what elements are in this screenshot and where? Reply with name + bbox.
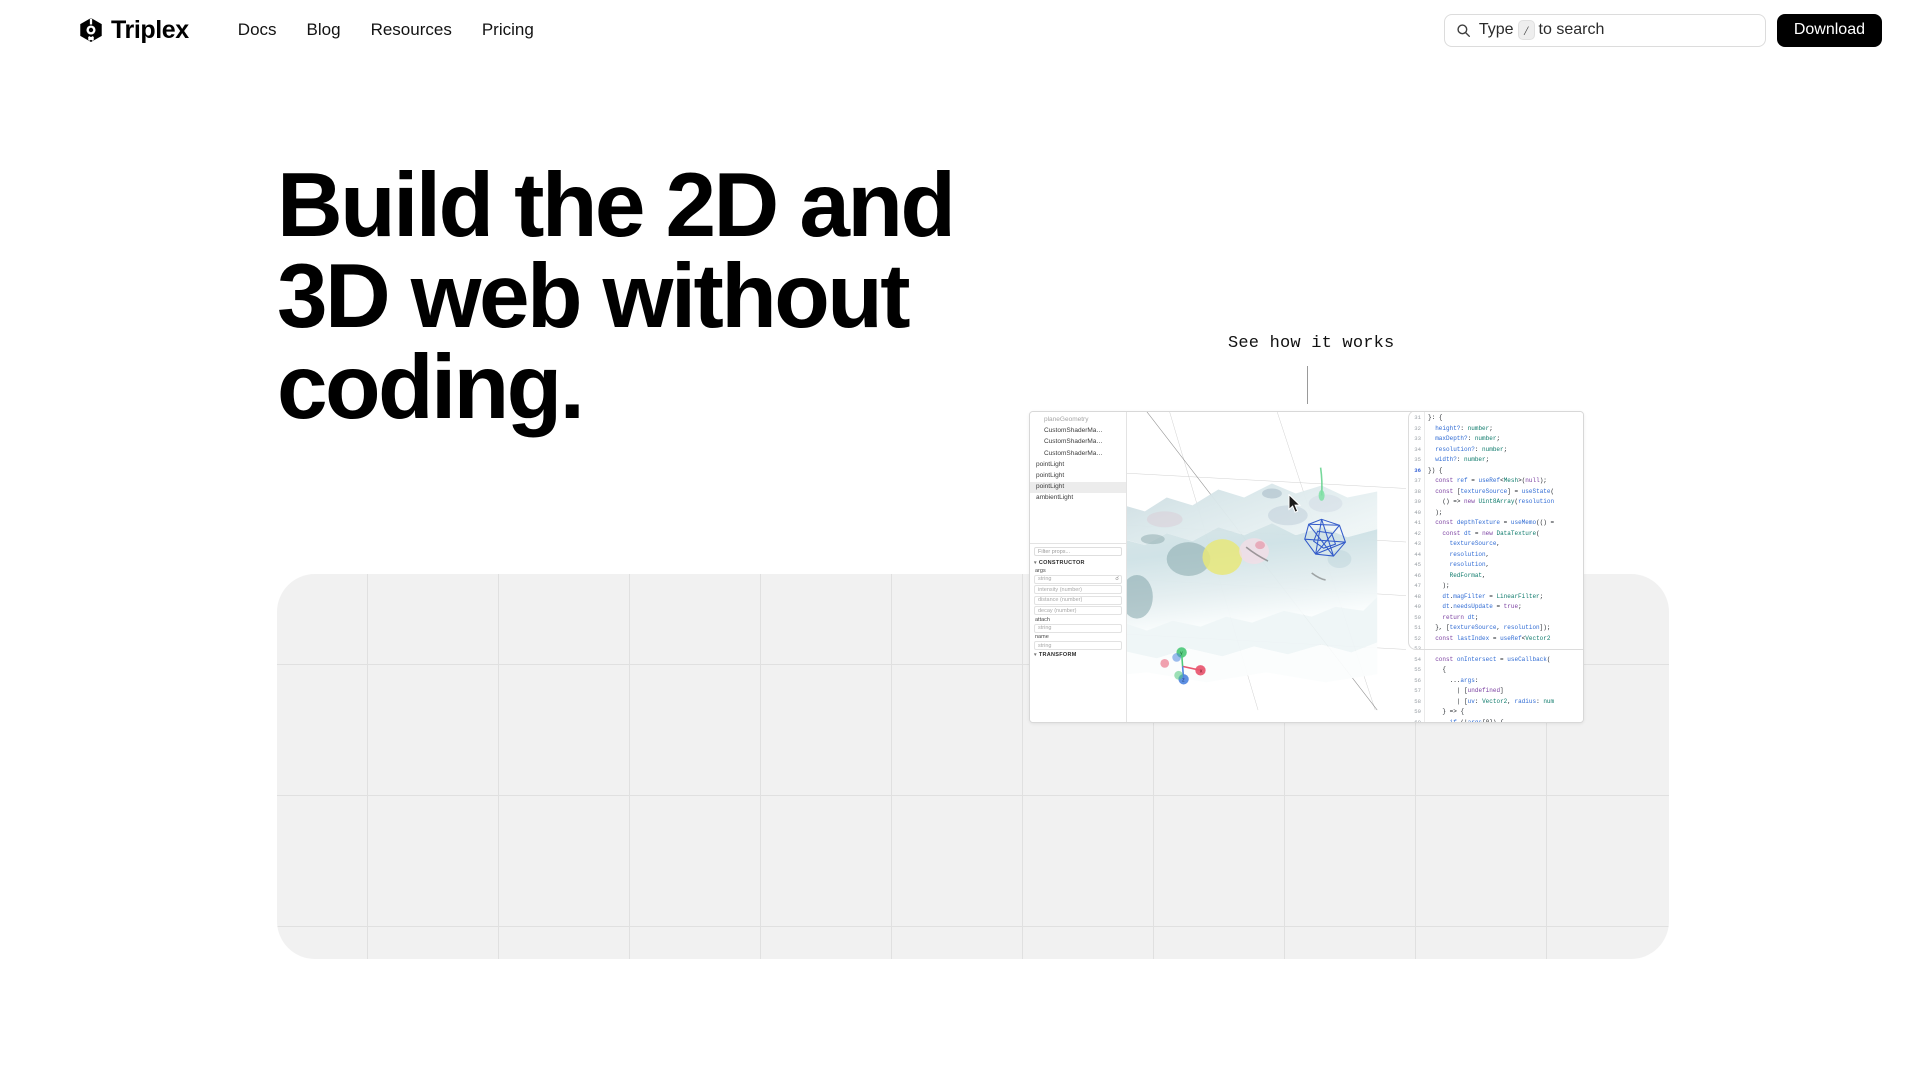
chevron-down-icon: ▾	[1034, 560, 1037, 566]
code-line: if (!args[0]) {	[1428, 718, 1583, 723]
prop-input-attach[interactable]: string	[1034, 624, 1122, 633]
code-gutter-line-numbers: 3132333435363738394041424344454647484950…	[1406, 412, 1424, 722]
prop-input-intensity[interactable]: intensity (number)	[1034, 585, 1122, 594]
props-group-transform-header[interactable]: ▾ TRANSFORM	[1034, 652, 1122, 658]
prop-input-value: string	[1038, 576, 1051, 582]
code-line: }: {	[1428, 413, 1583, 424]
brand-logo-link[interactable]: Triplex	[78, 17, 189, 43]
line-number: 43	[1406, 539, 1421, 550]
header-actions: Type / to search Download	[1444, 14, 1882, 47]
code-line: } => {	[1428, 707, 1583, 718]
code-editor-pane[interactable]: 3132333435363738394041424344454647484950…	[1406, 412, 1583, 722]
code-line: const onIntersect = useCallback(	[1428, 655, 1583, 666]
line-number: 41	[1406, 518, 1421, 529]
line-number: 55	[1406, 665, 1421, 676]
code-line: }) {	[1428, 466, 1583, 477]
code-line: resolution,	[1428, 550, 1583, 561]
search-icon	[1456, 23, 1471, 38]
gizmo-z-label: z	[1182, 677, 1185, 683]
code-line: }, [textureSource, resolution]);	[1428, 623, 1583, 634]
props-group-constructor-header[interactable]: ▾ CONSTRUCTOR	[1034, 560, 1122, 566]
props-group-title: CONSTRUCTOR	[1039, 560, 1085, 566]
prop-input-distance[interactable]: distance (number)	[1034, 596, 1122, 605]
code-editor-content[interactable]: }: { height?: number; maxDepth?: number;…	[1424, 412, 1583, 722]
scene-tree-item[interactable]: pointLight	[1030, 471, 1126, 482]
terrain-mesh	[1127, 484, 1377, 683]
line-number: 52	[1406, 634, 1421, 645]
site-header: Triplex Docs Blog Resources Pricing Type…	[0, 0, 1920, 60]
code-line: textureSource,	[1428, 539, 1583, 550]
nav-item-blog[interactable]: Blog	[292, 14, 356, 46]
code-line: maxDepth?: number;	[1428, 434, 1583, 445]
gizmo-y-label: y	[1180, 650, 1183, 656]
line-number: 36	[1406, 466, 1421, 477]
line-number: 50	[1406, 613, 1421, 624]
code-line: return dt;	[1428, 613, 1583, 624]
line-number: 48	[1406, 592, 1421, 603]
link-icon[interactable]: ☌	[1115, 576, 1119, 582]
scene-tree: planeGeometry CustomShaderMa… CustomShad…	[1030, 412, 1126, 543]
line-number: 45	[1406, 560, 1421, 571]
code-line: const depthTexture = useMemo(() =	[1428, 518, 1583, 529]
scene-tree-item[interactable]: CustomShaderMa…	[1030, 426, 1126, 437]
code-line: const dt = new DataTexture(	[1428, 529, 1583, 540]
viewport-render: x y z	[1127, 412, 1406, 722]
line-number: 60	[1406, 718, 1421, 723]
code-line	[1428, 644, 1583, 655]
search-prompt: Type / to search	[1479, 20, 1605, 40]
line-number: 44	[1406, 550, 1421, 561]
prop-label-attach: attach	[1035, 617, 1122, 623]
line-number: 46	[1406, 571, 1421, 582]
scene-tree-item[interactable]: CustomShaderMa…	[1030, 448, 1126, 459]
line-number: 31	[1406, 413, 1421, 424]
line-number: 57	[1406, 686, 1421, 697]
scene-tree-item[interactable]: CustomShaderMa…	[1030, 437, 1126, 448]
prop-input-name[interactable]: string	[1034, 641, 1122, 650]
code-line: dt.needsUpdate = true;	[1428, 602, 1583, 613]
code-line: const [textureSource] = useState(	[1428, 487, 1583, 498]
code-line: resolution?: number;	[1428, 445, 1583, 456]
props-filter-input[interactable]: Filter props...	[1034, 547, 1122, 556]
line-number: 34	[1406, 445, 1421, 456]
3d-viewport[interactable]: x y z	[1127, 412, 1406, 722]
code-line: );	[1428, 581, 1583, 592]
prop-input-args[interactable]: string ☌	[1034, 575, 1122, 584]
scene-tree-item[interactable]: planeGeometry	[1030, 415, 1126, 426]
line-number: 49	[1406, 602, 1421, 613]
search-prompt-suffix: to search	[1539, 21, 1605, 39]
editor-left-panel: planeGeometry CustomShaderMa… CustomShad…	[1030, 412, 1127, 722]
nav-item-docs[interactable]: Docs	[223, 14, 292, 46]
chevron-down-icon: ▾	[1034, 652, 1037, 658]
page-title: Build the 2D and 3D web without coding.	[277, 160, 1037, 433]
brand-name: Triplex	[111, 18, 189, 43]
line-number: 58	[1406, 697, 1421, 708]
code-line: const lastIndex = useRef<Vector2	[1428, 634, 1583, 645]
line-number: 59	[1406, 707, 1421, 718]
line-number: 40	[1406, 508, 1421, 519]
prop-label-name: name	[1035, 634, 1122, 640]
properties-panel: Filter props... ▾ CONSTRUCTOR args strin…	[1030, 543, 1126, 722]
annotation-pointer-line	[1307, 366, 1308, 404]
code-line: const ref = useRef<Mesh>(null);	[1428, 476, 1583, 487]
code-line: {	[1428, 665, 1583, 676]
scene-tree-item[interactable]: pointLight	[1030, 460, 1126, 471]
props-group-title: TRANSFORM	[1039, 652, 1077, 658]
line-number: 47	[1406, 581, 1421, 592]
line-number: 54	[1406, 655, 1421, 666]
code-line: | [undefined]	[1428, 686, 1583, 697]
line-number: 51	[1406, 623, 1421, 634]
code-line: );	[1428, 508, 1583, 519]
nav-item-pricing[interactable]: Pricing	[467, 14, 549, 46]
line-number: 56	[1406, 676, 1421, 687]
line-number: 33	[1406, 434, 1421, 445]
line-number: 37	[1406, 476, 1421, 487]
scene-tree-item[interactable]: ambientLight	[1030, 493, 1126, 504]
triplex-hexagon-logo-icon	[78, 17, 104, 43]
line-number: 39	[1406, 497, 1421, 508]
line-number: 42	[1406, 529, 1421, 540]
search-input[interactable]: Type / to search	[1444, 14, 1766, 47]
code-line: () => new Uint8Array(resolution	[1428, 497, 1583, 508]
see-how-it-works-label: See how it works	[1228, 334, 1394, 353]
gizmo-x-label: x	[1200, 668, 1203, 674]
prop-input-decay[interactable]: decay (number)	[1034, 606, 1122, 615]
code-line: width?: number;	[1428, 455, 1583, 466]
code-line: RedFormat,	[1428, 571, 1583, 582]
nav-item-resources[interactable]: Resources	[356, 14, 467, 46]
line-number: 38	[1406, 487, 1421, 498]
code-line: ...args:	[1428, 676, 1583, 687]
editor-preview-screenshot[interactable]: planeGeometry CustomShaderMa… CustomShad…	[1029, 411, 1584, 723]
search-shortcut-key: /	[1518, 20, 1535, 40]
prop-label-args: args	[1035, 568, 1122, 574]
download-button[interactable]: Download	[1777, 14, 1882, 47]
code-line: dt.magFilter = LinearFilter;	[1428, 592, 1583, 603]
code-line: height?: number;	[1428, 424, 1583, 435]
search-prompt-prefix: Type	[1479, 21, 1514, 39]
code-line: | [uv: Vector2, radius: num	[1428, 697, 1583, 708]
line-number: 35	[1406, 455, 1421, 466]
line-number: 53	[1406, 644, 1421, 655]
line-number: 32	[1406, 424, 1421, 435]
scene-tree-item-selected[interactable]: pointLight	[1030, 482, 1126, 493]
code-line: resolution,	[1428, 560, 1583, 571]
main-nav: Docs Blog Resources Pricing	[223, 14, 549, 46]
